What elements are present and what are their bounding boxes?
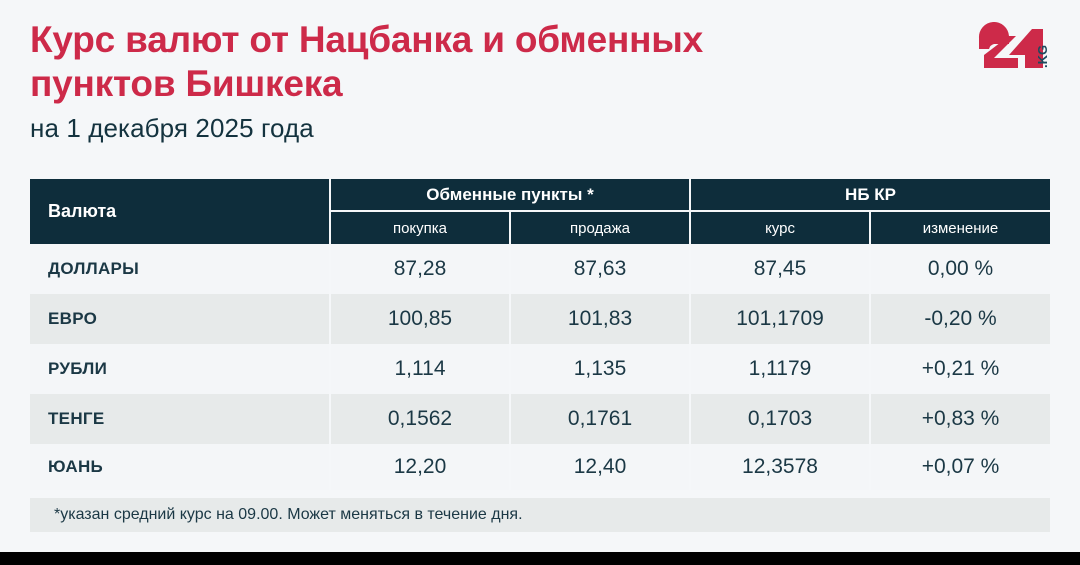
cell-currency: ТЕНГЕ (30, 394, 330, 444)
column-header-buy: покупка (330, 211, 510, 244)
site-logo-24kg[interactable]: .KG (976, 22, 1054, 78)
table-header-row-groups: Валюта Обменные пункты * НБ КР (30, 179, 1050, 211)
cell-buy: 87,28 (330, 244, 510, 294)
cell-buy: 100,85 (330, 294, 510, 344)
column-header-sell: продажа (510, 211, 690, 244)
cell-sell: 101,83 (510, 294, 690, 344)
cell-change: 0,00 % (870, 244, 1050, 294)
column-group-nbkr: НБ КР (690, 179, 1050, 211)
cell-rate: 0,1703 (690, 394, 870, 444)
cell-sell: 12,40 (510, 444, 690, 494)
cell-currency: ДОЛЛАРЫ (30, 244, 330, 294)
bottom-black-bar (0, 552, 1080, 565)
cell-buy: 0,1562 (330, 394, 510, 444)
cell-rate: 101,1709 (690, 294, 870, 344)
cell-currency: ЮАНЬ (30, 444, 330, 494)
table-head: Валюта Обменные пункты * НБ КР покупка п… (30, 179, 1050, 244)
cell-sell: 0,1761 (510, 394, 690, 444)
cell-change: +0,21 % (870, 344, 1050, 394)
cell-change: -0,20 % (870, 294, 1050, 344)
column-header-change: изменение (870, 211, 1050, 244)
cell-sell: 87,63 (510, 244, 690, 294)
table-row: ДОЛЛАРЫ 87,28 87,63 87,45 0,00 % (30, 244, 1050, 294)
column-header-currency: Валюта (30, 179, 330, 244)
table-row: ЕВРО 100,85 101,83 101,1709 -0,20 % (30, 294, 1050, 344)
cell-currency: ЕВРО (30, 294, 330, 344)
svg-text:.KG: .KG (1035, 45, 1050, 68)
cell-rate: 1,1179 (690, 344, 870, 394)
page-title: Курс валют от Нацбанка и обменных пункто… (30, 18, 730, 105)
table-footnote: *указан средний курс на 09.00. Может мен… (30, 494, 1050, 532)
table-footnote-row: *указан средний курс на 09.00. Может мен… (30, 494, 1050, 532)
cell-buy: 12,20 (330, 444, 510, 494)
table-row: ТЕНГЕ 0,1562 0,1761 0,1703 +0,83 % (30, 394, 1050, 444)
table-row: РУБЛИ 1,114 1,135 1,1179 +0,21 % (30, 344, 1050, 394)
cell-rate: 12,3578 (690, 444, 870, 494)
column-group-exchange-offices: Обменные пункты * (330, 179, 690, 211)
cell-change: +0,83 % (870, 394, 1050, 444)
column-header-rate: курс (690, 211, 870, 244)
cell-sell: 1,135 (510, 344, 690, 394)
page-subtitle: на 1 декабря 2025 года (30, 113, 314, 144)
cell-buy: 1,114 (330, 344, 510, 394)
table-row: ЮАНЬ 12,20 12,40 12,3578 +0,07 % (30, 444, 1050, 494)
cell-change: +0,07 % (870, 444, 1050, 494)
logo-24kg-icon: .KG (976, 22, 1054, 78)
page-header: Курс валют от Нацбанка и обменных пункто… (0, 0, 1080, 165)
currency-rates-table: Валюта Обменные пункты * НБ КР покупка п… (30, 179, 1050, 532)
cell-currency: РУБЛИ (30, 344, 330, 394)
cell-rate: 87,45 (690, 244, 870, 294)
table-body: ДОЛЛАРЫ 87,28 87,63 87,45 0,00 % ЕВРО 10… (30, 244, 1050, 532)
